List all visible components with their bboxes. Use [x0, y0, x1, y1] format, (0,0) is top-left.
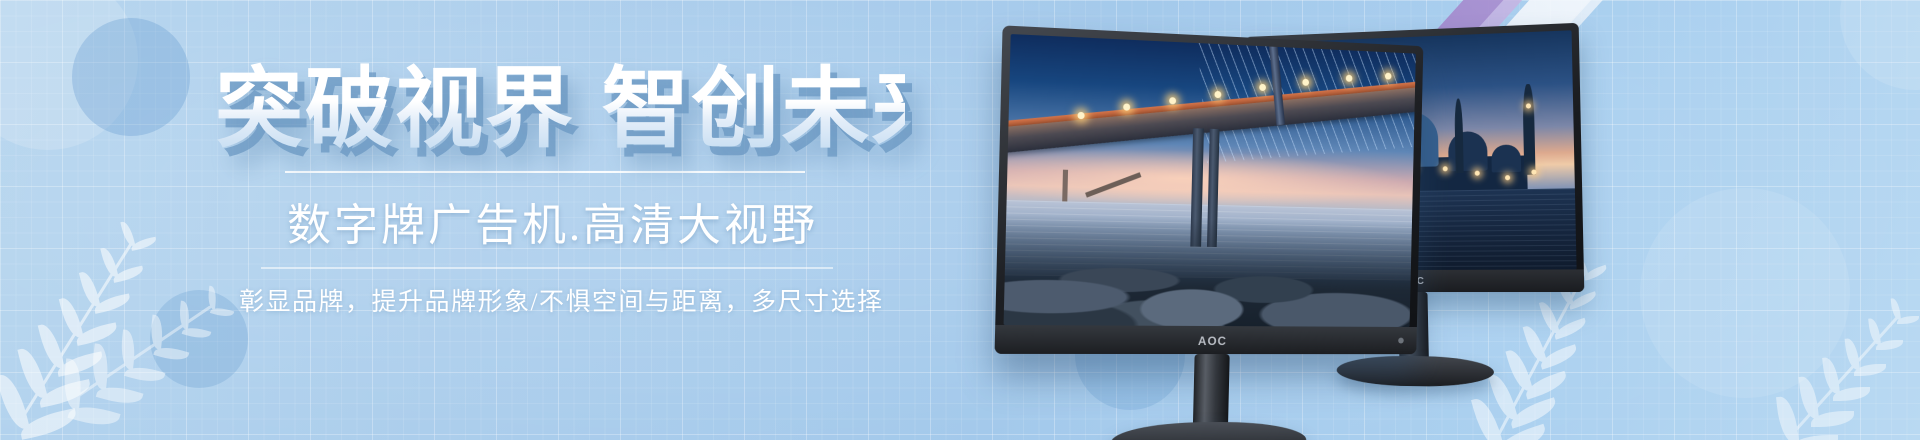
product-images: AOC — [1060, 0, 1920, 440]
front-monitor-logo: AOC — [1198, 334, 1227, 348]
front-monitor-screen — [1004, 34, 1416, 327]
promo-banner: 突破视界 智创未来 数字牌广告机.高清大视野 彰显品牌，提升品牌形象/不惧空间与… — [0, 0, 1920, 440]
divider — [285, 171, 805, 173]
tagline: 彰显品牌，提升品牌形象/不惧空间与距离，多尺寸选择 — [239, 282, 905, 318]
headline: 突破视界 智创未来 — [215, 62, 905, 155]
copy-block: 突破视界 智创未来 数字牌广告机.高清大视野 彰显品牌，提升品牌形象/不惧空间与… — [215, 62, 905, 318]
back-monitor-stand-base — [1336, 355, 1494, 387]
divider-secondary — [261, 267, 833, 269]
front-monitor: AOC — [995, 25, 1424, 354]
subheadline: 数字牌广告机.高清大视野 — [287, 189, 905, 253]
front-monitor-stand-base — [1111, 421, 1307, 440]
circle-decoration-icon — [72, 18, 190, 136]
